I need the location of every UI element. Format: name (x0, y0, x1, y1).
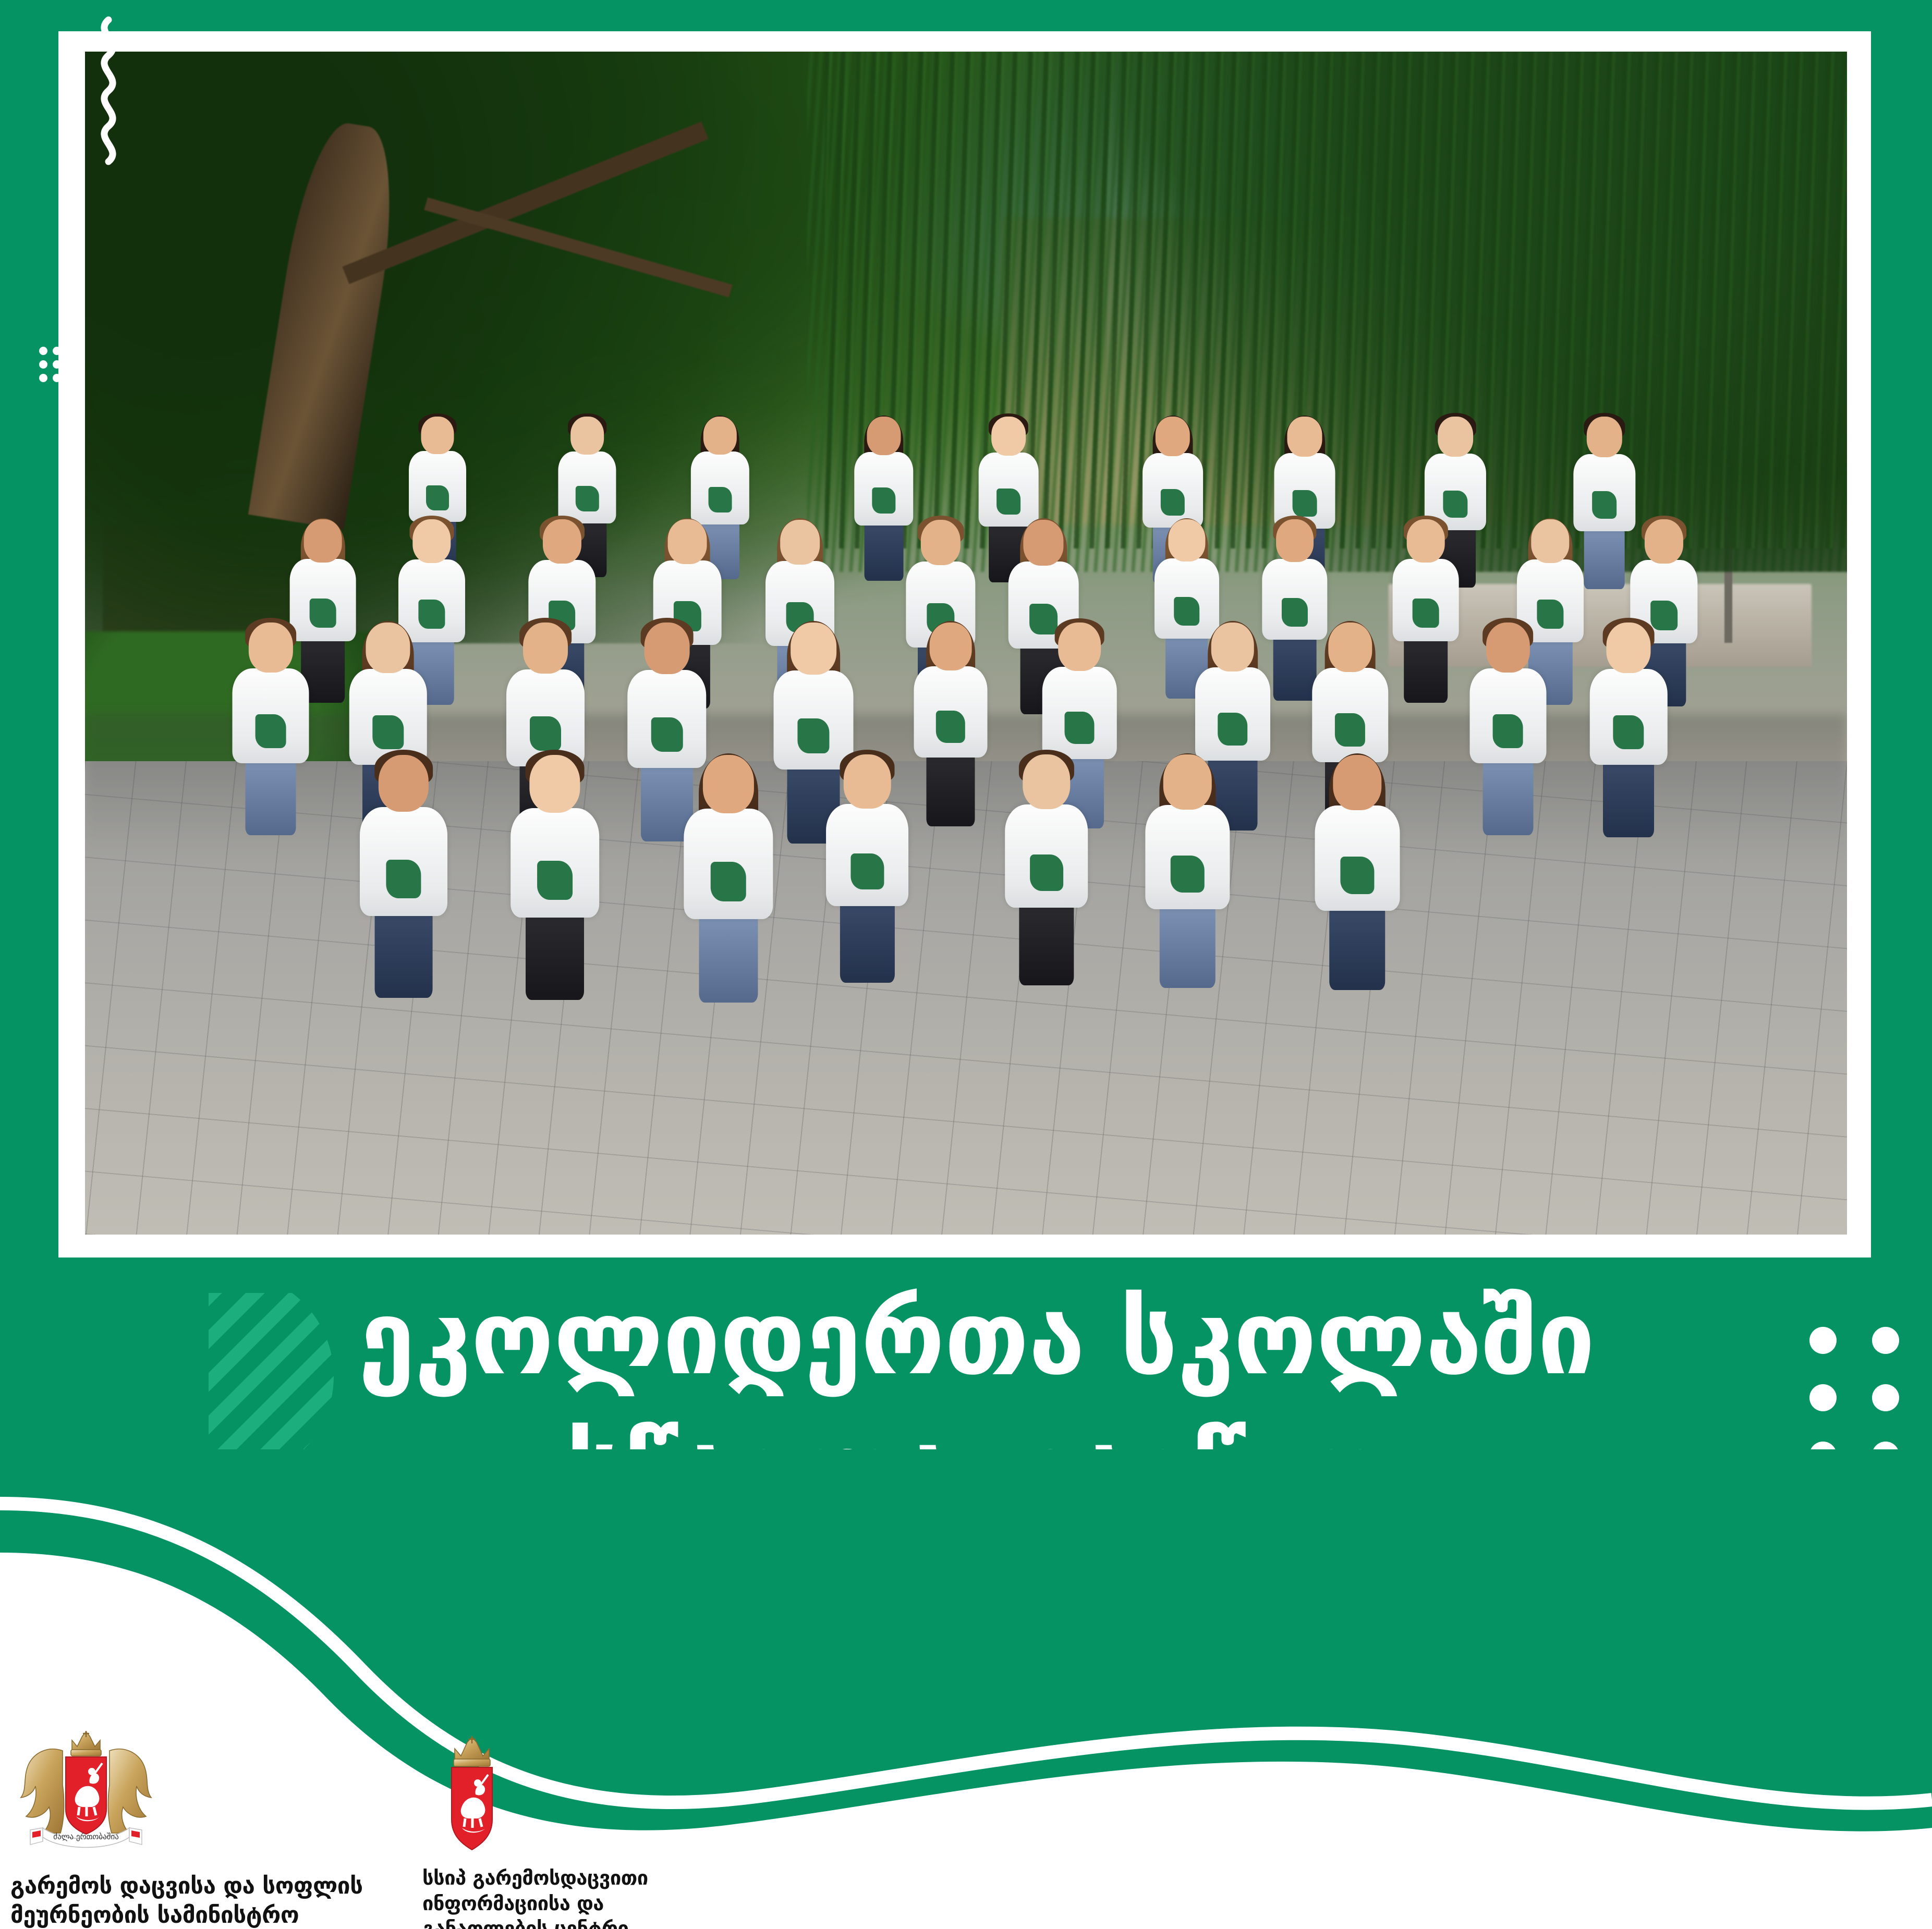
photo-person-legs (1019, 902, 1074, 985)
photo-person-head (530, 755, 580, 813)
photo-person-head (844, 754, 891, 808)
photo-person-head (1287, 417, 1322, 456)
photo-person-legs (926, 753, 975, 826)
photo-person-head (1407, 519, 1445, 563)
title-block: ეკოლიდერთა სკოლაში სწავლა დაიწყო (0, 1257, 1932, 1654)
photo-person-head (791, 622, 836, 675)
eiec-caption: სსიპ გარემოსდაცვითი ინფორმაციისა და განა… (422, 1865, 767, 1929)
photo-person-head (1024, 520, 1064, 566)
photo-person (1315, 704, 1400, 991)
photo-shirt-logo (651, 717, 683, 752)
photo-person-head (703, 417, 736, 455)
photo-person (826, 705, 908, 983)
photo-person-head (412, 519, 451, 563)
georgian-shield-emblem-icon (422, 1736, 521, 1856)
photo-shirt-logo (936, 711, 965, 743)
photo-person (1590, 576, 1668, 837)
photo-person-head (523, 622, 568, 674)
photo-person-head (1586, 417, 1622, 457)
photo-person-head (1486, 622, 1529, 673)
eiec-logo-block: სსიპ გარემოსდაცვითი ინფორმაციისა და განა… (422, 1736, 767, 1929)
photo-person-head (1168, 519, 1205, 561)
photo-shirt-logo (1613, 715, 1644, 749)
squiggle-icon (78, 16, 136, 167)
title-line-2: სწავლა დაიწყო (21, 1405, 1932, 1538)
dot-grid-icon (37, 344, 78, 385)
photo-person-head (1438, 417, 1473, 457)
photo-shirt-logo (1171, 856, 1205, 893)
photo-person (1005, 705, 1088, 985)
photo-shirt-logo (710, 862, 746, 901)
photo-person-head (1328, 622, 1371, 672)
photo-person-legs (699, 913, 758, 1003)
photo-person-legs (1273, 636, 1317, 701)
ministry-logo-block: ძალა ერთობაშია გარემოს დაცვისა და სოფლის… (10, 1731, 407, 1929)
photo-person-legs (840, 900, 894, 983)
photo-person-head (1333, 755, 1381, 811)
photo-person (1146, 704, 1230, 988)
photo-shirt-logo (1340, 857, 1374, 894)
photo-shirt-logo (797, 718, 829, 753)
photo-person-head (1276, 519, 1314, 562)
photo-person (511, 702, 599, 1000)
coat-of-arms-motto: ძალა ერთობაშია (53, 1832, 119, 1841)
photo-person-head (921, 520, 961, 565)
photo-person (1393, 480, 1459, 702)
photo-person (684, 701, 773, 1003)
photo-person-legs (375, 910, 433, 998)
photo-person-legs (1160, 904, 1215, 988)
photo-person-head (421, 417, 454, 454)
photo-shirt-logo (851, 853, 884, 889)
photo-shirt-logo (872, 487, 895, 514)
photo-person-head (379, 755, 429, 812)
photo-person-legs (1329, 906, 1386, 991)
photo-people-group (85, 371, 1847, 1105)
photo-person-head (644, 622, 689, 674)
footer: ძალა ერთობაშია გარემოს დაცვისა და სოფლის… (0, 1658, 1932, 1929)
page-title: ეკოლიდერთა სკოლაში სწავლა დაიწყო (0, 1272, 1932, 1538)
photo-person-head (703, 755, 754, 813)
photo-shirt-logo (386, 860, 421, 898)
photo-person-head (1058, 622, 1101, 671)
photo-person (914, 578, 987, 826)
photo-person-head (570, 417, 604, 455)
photo-person-head (249, 622, 293, 673)
photo-shirt-logo (1413, 599, 1439, 628)
photo-person-head (929, 622, 971, 670)
photo-person-head (1211, 622, 1255, 672)
photo-person-legs (1603, 760, 1654, 837)
photo-person-head (304, 519, 342, 563)
photo-person-head (867, 417, 901, 455)
photo-person-head (991, 417, 1026, 456)
photo-shirt-logo (1592, 491, 1617, 519)
contact-info[interactable]: www.eiec.gov.ge | info@eiec.gov.ge (1069, 1840, 1799, 1882)
photo-frame (58, 31, 1871, 1257)
ministry-caption: გარემოს დაცვისა და სოფლის მეურნეობის სამ… (10, 1872, 407, 1929)
photo-person (1469, 577, 1546, 835)
photo-shirt-logo (1282, 598, 1308, 627)
photo-person-head (366, 622, 410, 673)
photo-person-head (780, 520, 820, 565)
group-photo (85, 52, 1847, 1235)
photo-person-legs (1483, 759, 1533, 835)
photo-person-head (668, 519, 707, 564)
photo-person-head (1023, 754, 1071, 809)
photo-person (854, 381, 913, 581)
photo-person-head (1645, 519, 1683, 564)
photo-person (233, 577, 309, 835)
photo-shirt-logo (537, 861, 573, 900)
photo-person-head (1607, 622, 1651, 673)
photo-person-legs (526, 912, 584, 1000)
photo-shirt-logo (1492, 714, 1523, 748)
georgian-coat-of-arms-icon: ძალა ერთობაშია (10, 1731, 162, 1861)
photo-shirt-logo (310, 599, 336, 628)
photo-person (360, 702, 447, 998)
photo-person-legs (246, 759, 296, 835)
photo-shirt-logo (1030, 854, 1063, 891)
photo-person-head (543, 519, 581, 564)
photo-person-legs (1404, 637, 1448, 703)
photo-shirt-logo (256, 714, 286, 748)
photo-person-head (1163, 754, 1211, 809)
photo-person-head (1531, 519, 1569, 563)
photo-person-legs (864, 521, 903, 580)
photo-person-head (1156, 417, 1190, 456)
title-line-1: ეკოლიდერთა სკოლაში (21, 1272, 1932, 1405)
